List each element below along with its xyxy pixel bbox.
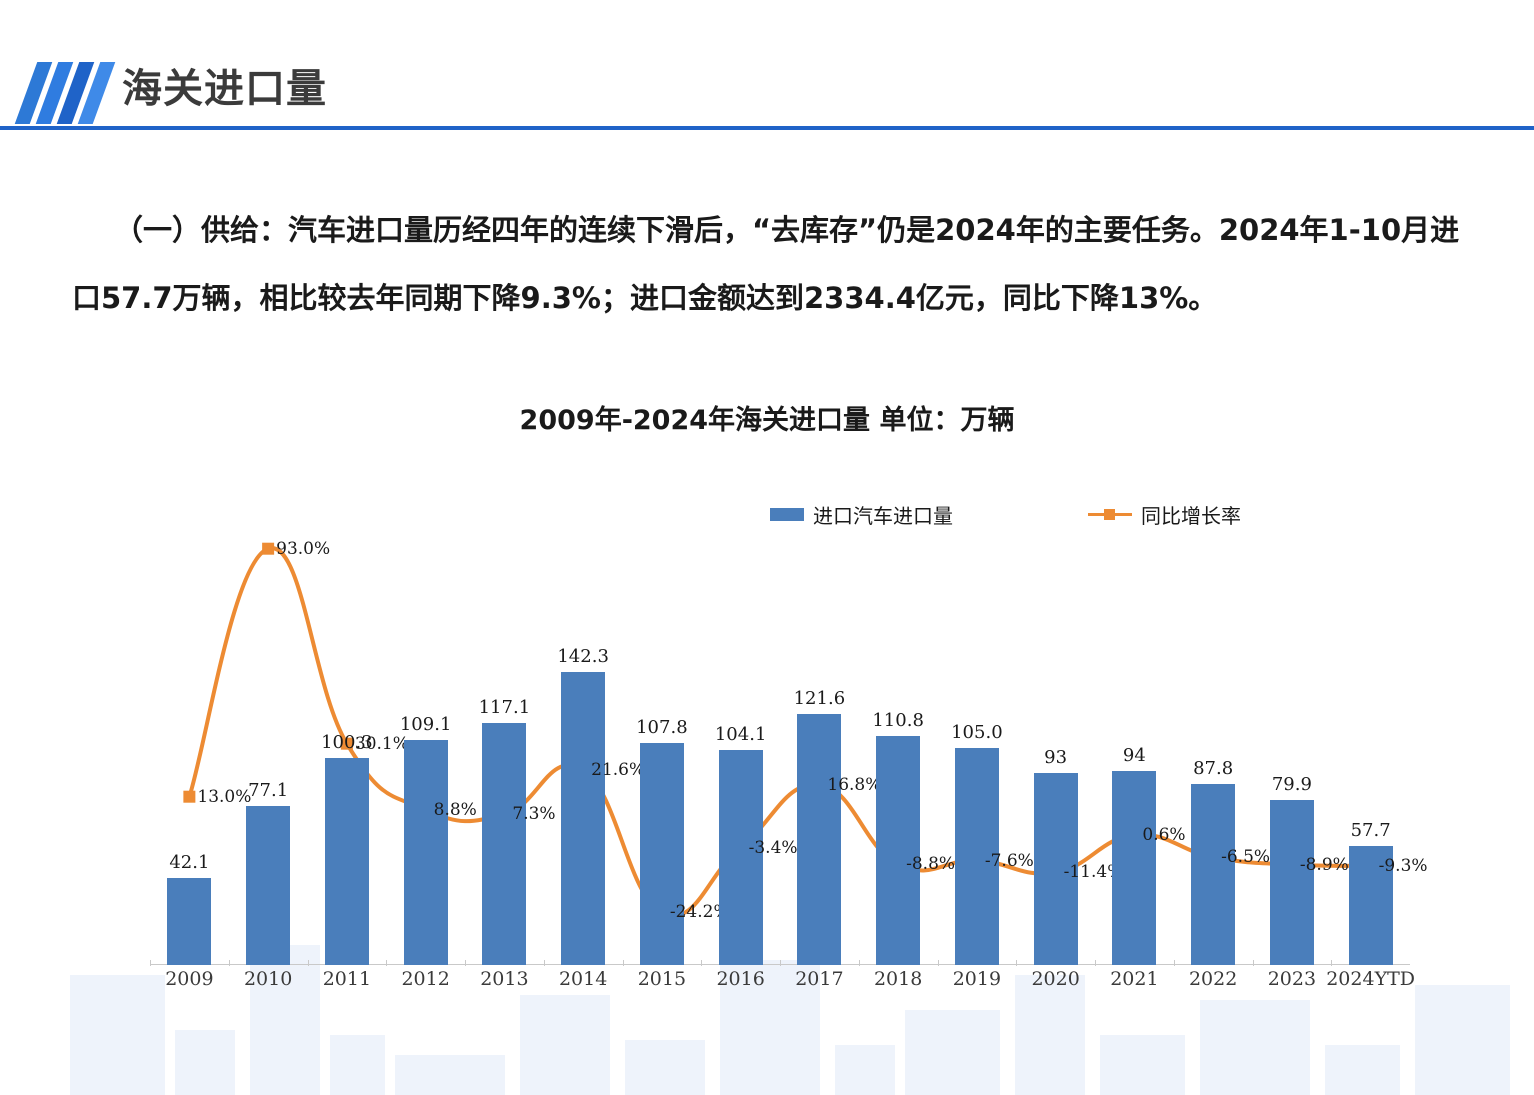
x-tick (859, 960, 860, 966)
growth-label-2012: 8.8% (434, 800, 477, 820)
x-tick (701, 960, 702, 966)
x-tick (1095, 960, 1096, 966)
growth-marker-2010[interactable] (262, 543, 274, 555)
x-tick (308, 960, 309, 966)
skyline-block (175, 1030, 235, 1095)
legend-label-bar: 进口汽车进口量 (813, 500, 953, 529)
growth-label-2010: 93.0% (276, 539, 330, 559)
x-tick (1253, 960, 1254, 966)
x-tick (623, 960, 624, 966)
x-tick (150, 960, 151, 966)
legend-label-line: 同比增长率 (1141, 500, 1241, 529)
slide-header: 海关进口量 (0, 48, 1534, 140)
bar-value-label-2009: 42.1 (144, 852, 234, 873)
chart-canvas: 42.113.0%77.193.0%100.330.1%109.18.8%117… (150, 520, 1410, 965)
skyline-block (625, 1040, 705, 1095)
legend-line-swatch-icon (1088, 508, 1132, 521)
header-divider-highlight (0, 131, 1534, 133)
bar-2009[interactable] (167, 878, 211, 965)
bar-2022[interactable] (1191, 784, 1235, 965)
x-tick (386, 960, 387, 966)
chart-plot-area: 42.113.0%77.193.0%100.330.1%109.18.8%117… (150, 520, 1410, 965)
bar-value-label-2020: 93 (1011, 747, 1101, 768)
skyline-block (395, 1055, 505, 1095)
growth-label-2017: 16.8% (827, 775, 881, 795)
legend-bar-swatch-icon (770, 508, 804, 521)
bar-value-label-2013: 117.1 (459, 697, 549, 718)
legend-item-line-series[interactable]: 同比增长率 (1088, 500, 1241, 529)
x-tick (1174, 960, 1175, 966)
growth-label-2016: -3.4% (749, 838, 798, 858)
bar-value-label-2015: 107.8 (617, 717, 707, 738)
growth-marker-2009[interactable] (183, 791, 195, 803)
x-tick (229, 960, 230, 966)
x-axis-label-2024YTD: 2024YTD (1321, 968, 1421, 990)
bar-value-label-2023: 79.9 (1247, 774, 1337, 795)
bar-2023[interactable] (1270, 800, 1314, 965)
x-axis-labels: 2009201020112012201320142015201620172018… (150, 968, 1410, 1002)
bar-2014[interactable] (561, 672, 605, 965)
bar-value-label-2024YTD: 57.7 (1326, 820, 1416, 841)
x-tick (544, 960, 545, 966)
bar-value-label-2022: 87.8 (1168, 758, 1258, 779)
skyline-block (905, 1010, 1000, 1095)
bar-2021[interactable] (1112, 771, 1156, 965)
x-tick (465, 960, 466, 966)
blue-slanted-bars-logo-icon (22, 62, 104, 124)
growth-label-2022: -6.5% (1221, 847, 1270, 867)
x-tick (1331, 960, 1332, 966)
growth-label-2023: -8.9% (1300, 855, 1349, 875)
growth-label-2011: 30.1% (355, 734, 409, 754)
bar-2017[interactable] (797, 714, 841, 965)
growth-label-2018: -8.8% (906, 854, 955, 874)
header-divider (0, 126, 1534, 130)
bar-value-label-2012: 109.1 (381, 714, 471, 735)
body-paragraph: （一）供给：汽车进口量历经四年的连续下滑后，“去库存”仍是2024年的主要任务。… (72, 196, 1472, 332)
skyline-block (1200, 1000, 1310, 1095)
bar-value-label-2019: 105.0 (932, 722, 1022, 743)
bar-value-label-2017: 121.6 (774, 688, 864, 709)
skyline-block (520, 995, 610, 1095)
x-tick (938, 960, 939, 966)
growth-label-2021: 0.6% (1142, 825, 1185, 845)
skyline-block (1100, 1035, 1185, 1095)
bar-2011[interactable] (325, 758, 369, 965)
bar-2016[interactable] (719, 750, 763, 965)
bar-2010[interactable] (246, 806, 290, 965)
bar-value-label-2021: 94 (1089, 745, 1179, 766)
bar-value-label-2014: 142.3 (538, 646, 628, 667)
skyline-block (835, 1045, 895, 1095)
bar-2018[interactable] (876, 736, 920, 965)
slide-page: 海关进口量 （一）供给：汽车进口量历经四年的连续下滑后，“去库存”仍是2024年… (0, 0, 1534, 1095)
bar-value-label-2010: 77.1 (223, 780, 313, 801)
bar-value-label-2018: 110.8 (853, 710, 943, 731)
bar-2013[interactable] (482, 723, 526, 965)
bar-2012[interactable] (404, 740, 448, 965)
bar-2015[interactable] (640, 743, 684, 965)
chart-legend: 进口汽车进口量 同比增长率 (770, 500, 1290, 536)
page-title: 海关进口量 (122, 56, 327, 114)
chart-title: 2009年-2024年海关进口量 单位：万辆 (0, 398, 1534, 437)
x-tick (1016, 960, 1017, 966)
x-tick (780, 960, 781, 966)
skyline-block (330, 1035, 385, 1095)
growth-label-2024YTD: -9.3% (1379, 856, 1428, 876)
growth-label-2013: 7.3% (512, 804, 555, 824)
growth-label-2019: -7.6% (985, 851, 1034, 871)
bar-value-label-2016: 104.1 (696, 724, 786, 745)
skyline-block (1325, 1045, 1400, 1095)
growth-label-2014: 21.6% (591, 760, 645, 780)
legend-item-bar-series[interactable]: 进口汽车进口量 (770, 500, 953, 529)
skyline-block (1415, 985, 1510, 1095)
